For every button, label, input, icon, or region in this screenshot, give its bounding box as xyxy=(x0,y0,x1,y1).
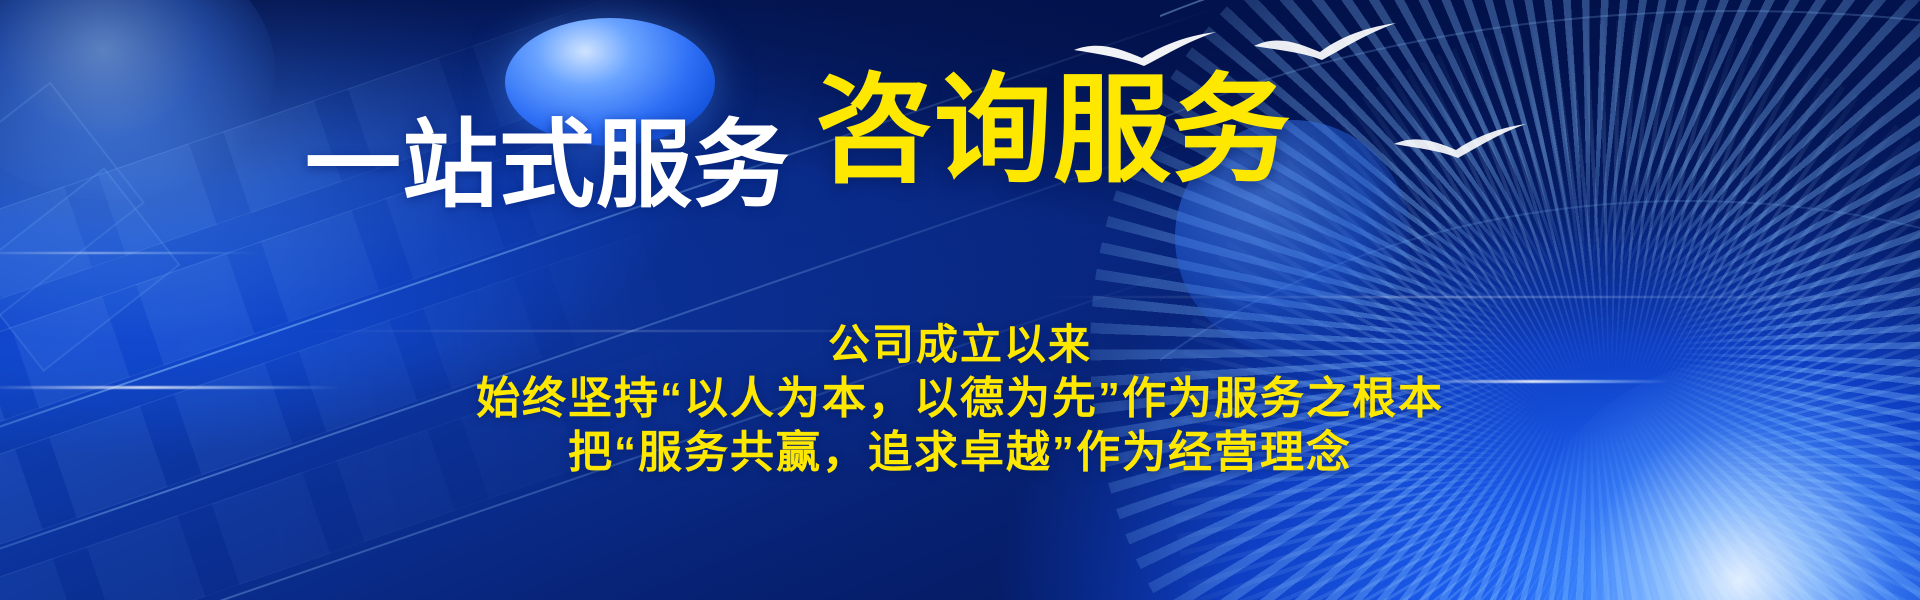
light-streak xyxy=(0,252,260,254)
subtitle-line-2: 始终坚持“以人为本，以德为先”作为服务之根本 xyxy=(0,372,1920,426)
light-streak xyxy=(1040,296,1920,298)
headline-accent: 咨询服务 xyxy=(815,72,1291,190)
subtitle-line-3: 把“服务共赢，追求卓越”作为经营理念 xyxy=(0,426,1920,480)
subtitle-block: 公司成立以来 始终坚持“以人为本，以德为先”作为服务之根本 把“服务共赢，追求卓… xyxy=(0,318,1920,480)
subtitle-line-1: 公司成立以来 xyxy=(0,318,1920,372)
headline-primary: 一站式服务 xyxy=(305,118,790,214)
headline-block: 一站式服务 咨询服务 xyxy=(0,0,1920,230)
promo-banner: 一站式服务 咨询服务 公司成立以来 始终坚持“以人为本，以德为先”作为服务之根本… xyxy=(0,0,1920,600)
